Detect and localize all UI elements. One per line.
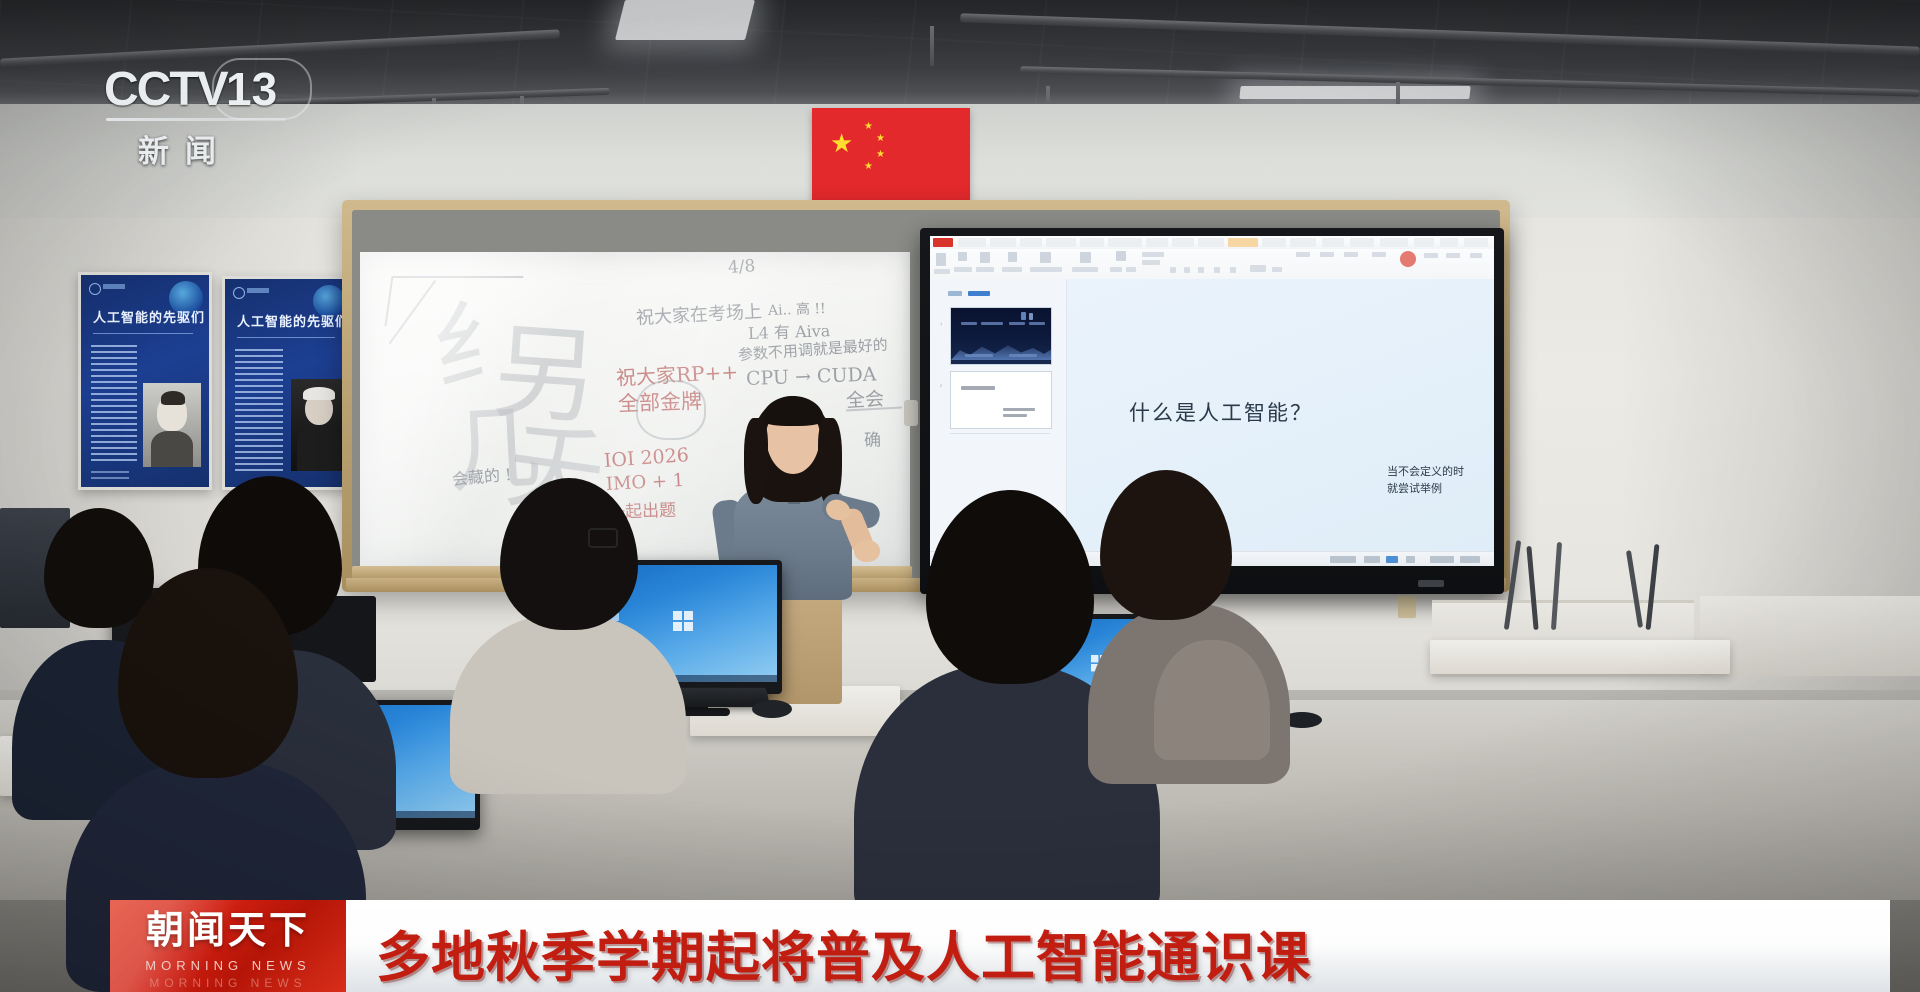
logo-cctv-text: CCTV — [104, 62, 227, 117]
slide-thumbnail[interactable] — [950, 371, 1052, 429]
ceiling-light-panel — [615, 0, 755, 40]
flag-star-small: ★ — [864, 122, 873, 132]
ppt-ribbon[interactable] — [930, 249, 1494, 280]
poster-ai-pioneers-1: 人工智能的先驱们 — [78, 272, 212, 490]
channel-logo: CCTV 13 新闻 — [104, 56, 304, 164]
board-latch — [904, 400, 918, 426]
light-hanger — [930, 26, 934, 66]
program-name-cn: 朝闻天下 — [124, 912, 332, 950]
flag-star-large: ★ — [830, 130, 853, 156]
logo-underline — [106, 118, 286, 121]
poster-title: 人工智能的先驱们 — [237, 311, 349, 330]
headline-text: 多地秋季学期起将普及人工智能通识课 — [376, 913, 1311, 992]
display-badge — [1418, 580, 1444, 587]
wps-logo-icon — [933, 238, 953, 247]
front-desk — [1430, 640, 1730, 674]
board-latch — [1398, 596, 1416, 618]
logo-channel-number: 13 — [226, 62, 277, 116]
slide-subtext-line2: 就尝试举例 — [1387, 481, 1464, 498]
program-name-en-shadow: MORNING NEWS — [124, 976, 332, 990]
poster-portrait-turing — [143, 383, 201, 467]
thumbnail-number: 2 — [940, 383, 942, 388]
eyeglasses — [588, 528, 618, 548]
flag-star-small: ★ — [864, 162, 873, 172]
cable-bundle — [1500, 540, 1740, 626]
poster-ai-pioneers-2: 人工智能的先驱们 — [222, 276, 354, 490]
lower-third: 朝闻天下 MORNING NEWS MORNING NEWS 多地秋季学期起将普… — [110, 900, 1890, 992]
slide-subtext-line1: 当不会定义的时 — [1387, 464, 1464, 481]
broadcast-frame: ★ ★ ★ ★ ★ 人工智能的先驱们 人工智能的先驱们 — [0, 0, 1920, 992]
speaker-puck — [752, 700, 792, 718]
program-name-en: MORNING NEWS — [124, 958, 332, 973]
logo-channel-name-cn: 新闻 — [138, 126, 232, 171]
slide-thumbnail[interactable] — [950, 307, 1052, 365]
slide-subtext: 当不会定义的时 就尝试举例 — [1387, 464, 1464, 497]
slides-tab[interactable] — [968, 291, 990, 296]
ceiling-light-panel — [1239, 86, 1470, 99]
slide-title: 什么是人工智能？ — [1129, 397, 1313, 427]
windows-logo-icon — [673, 611, 695, 633]
ppt-tab-bar[interactable] — [930, 236, 1494, 250]
outline-tab[interactable] — [948, 291, 962, 296]
flag-star-small: ★ — [876, 150, 885, 160]
poster-title: 人工智能的先驱们 — [93, 307, 205, 326]
thumbnail-number: 1 — [940, 321, 942, 326]
flag-star-small: ★ — [876, 134, 885, 144]
poster-portrait-pioneer — [291, 379, 345, 471]
